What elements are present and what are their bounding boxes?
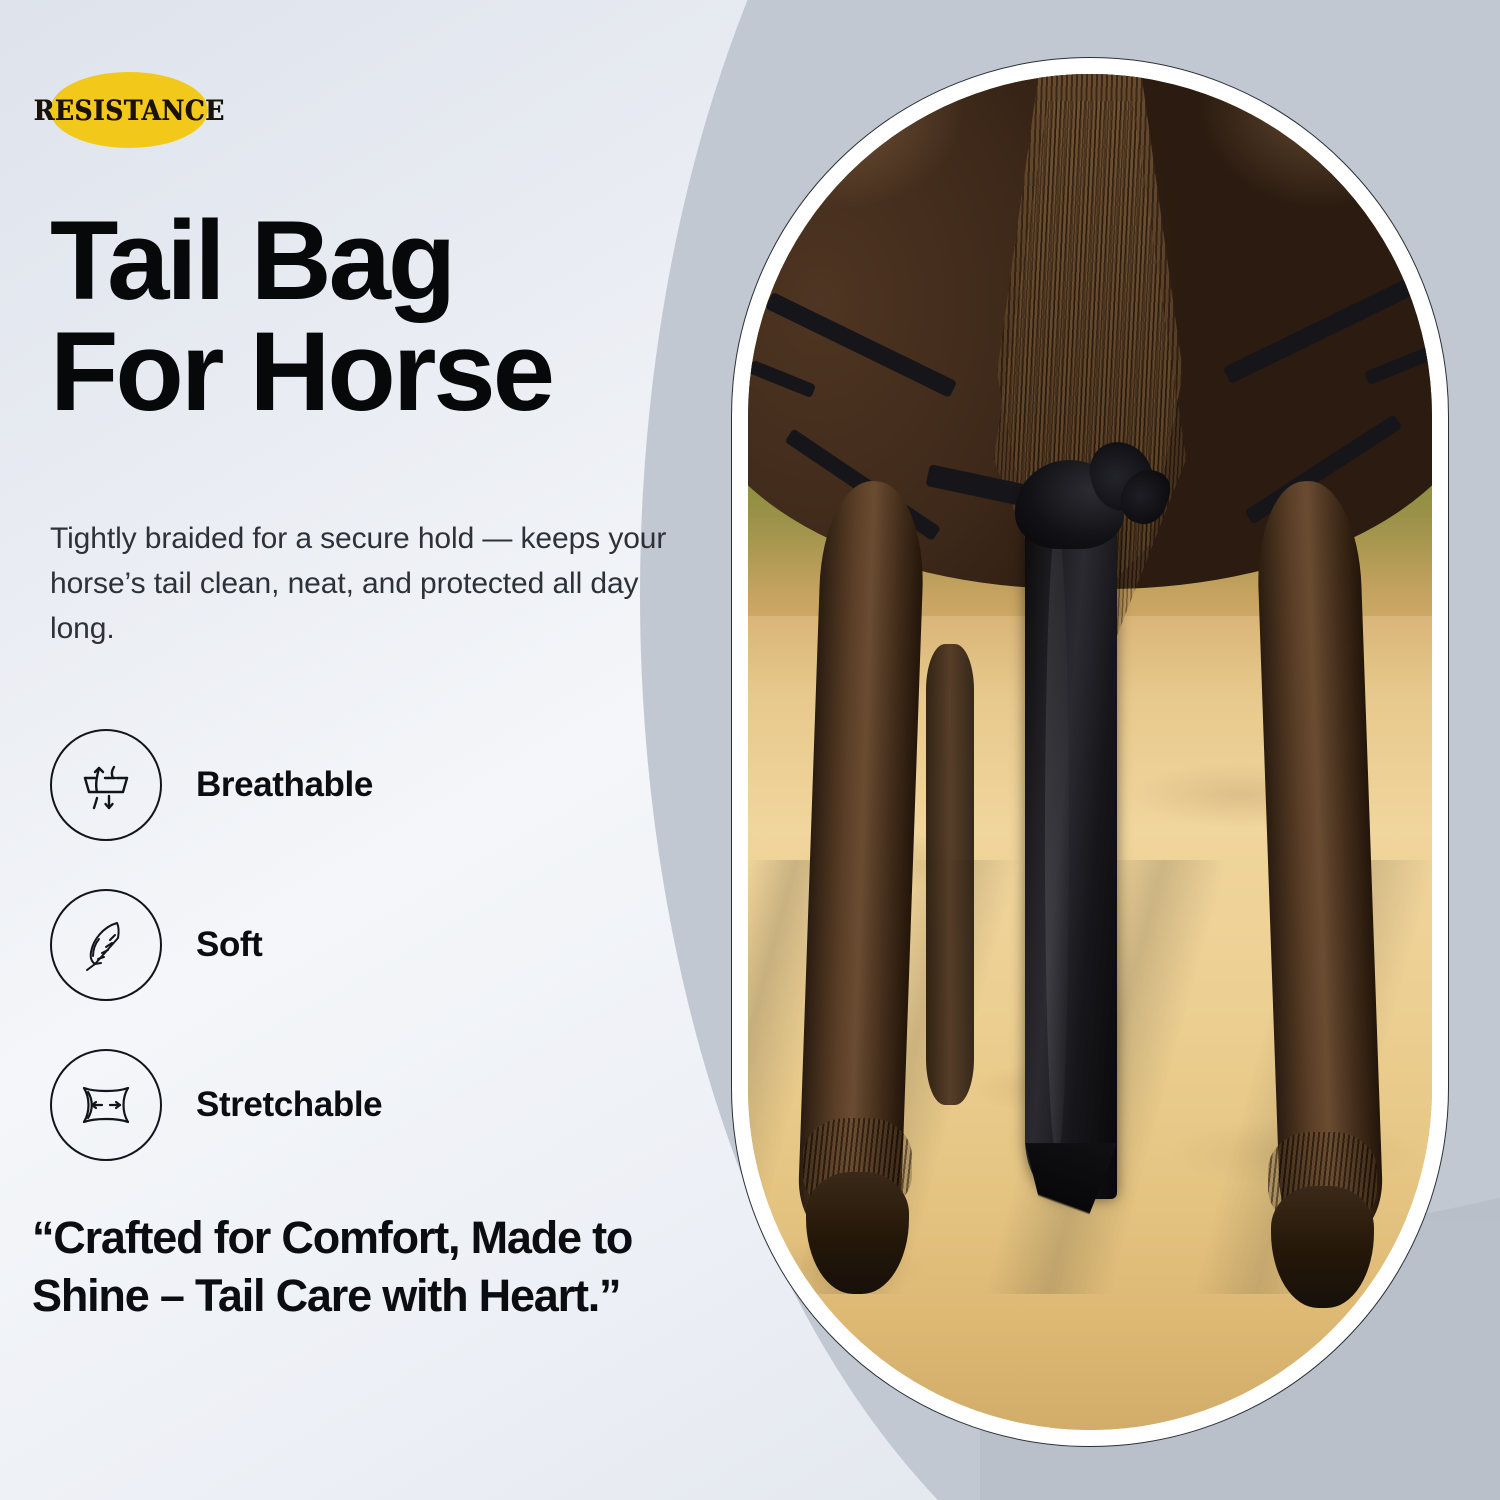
brand-logo: RESISTANCE	[50, 72, 208, 148]
tagline-line-2: Shine – Tail Care with Heart.”	[32, 1267, 700, 1326]
tagline-line-1: “Crafted for Comfort, Made to	[32, 1209, 700, 1268]
content-column: RESISTANCE Tail Bag For Horse Tightly br…	[0, 0, 740, 1500]
haunch-highlight-right	[1201, 74, 1432, 207]
feature-label-soft: Soft	[196, 925, 262, 965]
feature-item-soft: Soft	[50, 889, 700, 1001]
feature-list: Breathable Soft	[50, 729, 700, 1161]
haunch-highlight-left	[748, 74, 963, 207]
product-photo	[748, 74, 1432, 1430]
tail-bag-knot	[1015, 460, 1124, 548]
horse-far-leg	[926, 644, 974, 1105]
stretch-arrows-fabric-icon	[50, 1049, 162, 1161]
product-photo-frame	[731, 57, 1449, 1447]
tail-bag-highlight	[1045, 523, 1069, 1158]
page-title: Tail Bag For Horse	[50, 206, 700, 428]
feature-item-breathable: Breathable	[50, 729, 700, 841]
tagline-quote: “Crafted for Comfort, Made to Shine – Ta…	[32, 1209, 700, 1326]
page-title-line-1: Tail Bag	[50, 206, 700, 317]
feature-label-stretchable: Stretchable	[196, 1085, 382, 1125]
product-infographic-page: RESISTANCE Tail Bag For Horse Tightly br…	[0, 0, 1500, 1500]
tail-bag-product	[1025, 494, 1117, 1199]
logo-wordmark: RESISTANCE	[33, 94, 224, 126]
feature-item-stretchable: Stretchable	[50, 1049, 700, 1161]
feather-icon	[50, 889, 162, 1001]
feature-label-breathable: Breathable	[196, 765, 373, 805]
breathable-fabric-airflow-icon	[50, 729, 162, 841]
page-title-line-2: For Horse	[50, 317, 700, 428]
product-description: Tightly braided for a secure hold — keep…	[50, 516, 690, 651]
